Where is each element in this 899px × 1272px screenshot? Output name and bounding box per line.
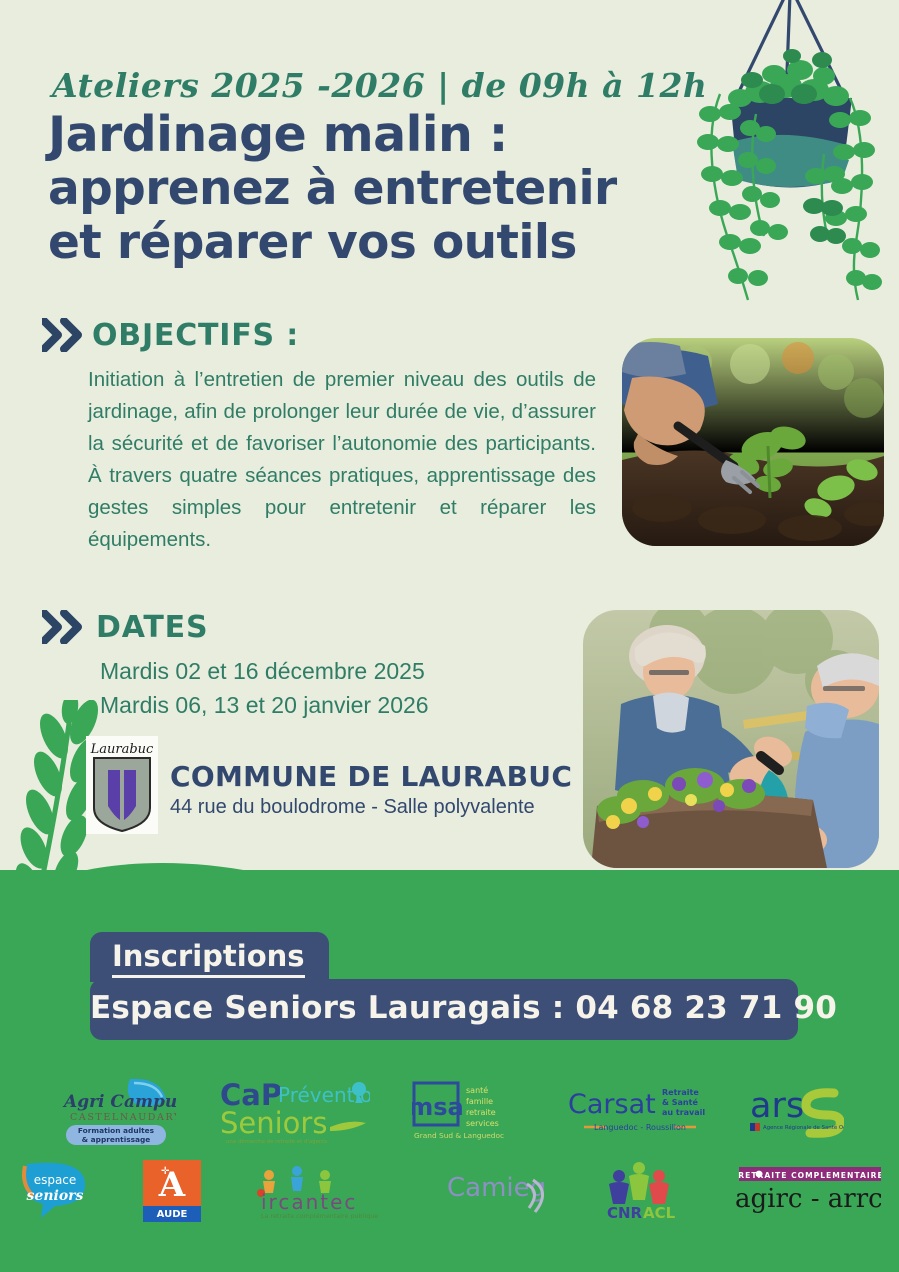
inscriptions-tab-label: Inscriptions xyxy=(112,939,305,978)
svg-text:Formation adultes: Formation adultes xyxy=(77,1126,154,1135)
dates-item: Mardis 02 et 16 décembre 2025 xyxy=(100,654,429,688)
dates-heading: DATES xyxy=(96,610,208,645)
carsat-logo: Carsat Retraite & Santé au travail Langu… xyxy=(566,1081,706,1139)
seniors-title: Seniors xyxy=(220,1106,327,1140)
agri-campus-subtitle: CASTELNAUDARY xyxy=(70,1112,176,1123)
cnracl-logo: CNR ACL xyxy=(601,1160,677,1222)
title-line-1: Jardinage malin : xyxy=(48,108,668,162)
registration-contact-bar: Espace Seniors Lauragais : 04 68 23 71 9… xyxy=(90,979,798,1040)
ircantec-tagline: La retraite complémentaire publique xyxy=(261,1212,378,1219)
msa-line: famille xyxy=(466,1097,493,1106)
title-line-3: et réparer vos outils xyxy=(48,216,668,270)
page-title: Jardinage malin : apprenez à entretenir … xyxy=(48,108,668,270)
partner-logos-row-2: espace seniors A ✛ AUDE ircantec La ret xyxy=(0,1152,899,1230)
dates-list: Mardis 02 et 16 décembre 2025 Mardis 06,… xyxy=(100,654,429,722)
agri-campus-logo: Agri Campus CASTELNAUDARY Formation adul… xyxy=(56,1073,176,1147)
cnracl-title-1: CNR xyxy=(607,1204,643,1222)
kicker-text: Ateliers 2025 -2026 | de 09h à 12h xyxy=(52,66,707,105)
cap-tagline: une démarche de retraite et d'agents xyxy=(226,1138,327,1145)
msa-logo: msa santé famille retraite services Gran… xyxy=(412,1079,524,1141)
svg-text:au travail: au travail xyxy=(662,1108,705,1117)
svg-text:& Santé: & Santé xyxy=(662,1097,698,1107)
agirc-arrco-title: agirc - arrco xyxy=(735,1184,881,1214)
hanging-plant-illustration xyxy=(664,0,896,314)
ircantec-logo: ircantec La retraite complémentaire publ… xyxy=(253,1163,393,1219)
commune-address: 44 rue du boulodrome - Salle polyvalente xyxy=(170,796,535,819)
espace-title: espace xyxy=(33,1173,76,1187)
aude-departement-logo: A ✛ AUDE xyxy=(143,1160,201,1222)
crest-label: Laurabuc xyxy=(90,742,154,757)
msa-line: santé xyxy=(466,1085,488,1095)
msa-title: msa xyxy=(412,1093,464,1121)
ars-tagline: Agence Régionale de Santé Occitanie xyxy=(763,1124,844,1131)
svg-text:✛: ✛ xyxy=(161,1166,170,1177)
agirc-arrco-logo: RETRAITE COMPLEMENTAIRE agirc - arrco xyxy=(729,1165,881,1217)
objectives-heading: OBJECTIFS : xyxy=(92,318,299,353)
espace-seniors-logo: espace seniors xyxy=(19,1160,91,1222)
commune-name: COMMUNE DE LAURABUC xyxy=(170,760,572,793)
aude-title: AUDE xyxy=(156,1209,187,1220)
poster-root: Ateliers 2025 -2026 | de 09h à 12h Jardi… xyxy=(0,0,899,1272)
msa-line: retraite xyxy=(466,1108,496,1117)
gardening-hands-photo xyxy=(622,338,884,546)
msa-line: services xyxy=(466,1119,499,1128)
laurabuc-crest-icon: Laurabuc xyxy=(86,736,158,834)
cap-prevention-seniors-logo: CaP Prévention Seniors une démarche de r… xyxy=(218,1075,370,1145)
ars-title: ars xyxy=(750,1086,804,1126)
agirc-arrco-banner: RETRAITE COMPLEMENTAIRE xyxy=(738,1171,881,1180)
partner-logos-row-1: Agri Campus CASTELNAUDARY Formation adul… xyxy=(0,1070,899,1150)
inscriptions-tab: Inscriptions xyxy=(90,932,329,982)
msa-tagline: Grand Sud & Languedoc xyxy=(414,1131,504,1140)
seniors-gardening-photo xyxy=(583,610,879,868)
ircantec-title: ircantec xyxy=(261,1190,357,1214)
svg-text:Retraite: Retraite xyxy=(662,1088,699,1097)
objectives-body: Initiation à l’entretien de premier nive… xyxy=(88,364,596,556)
dates-item: Mardis 06, 13 et 20 janvier 2026 xyxy=(100,688,429,722)
cnracl-title-2: ACL xyxy=(643,1204,676,1222)
carsat-title: Carsat xyxy=(568,1089,656,1120)
carsat-tagline: Languedoc - Roussillon xyxy=(594,1123,686,1132)
title-line-2: apprenez à entretenir xyxy=(48,162,668,216)
double-chevron-icon xyxy=(42,610,88,644)
seniors-title: seniors xyxy=(26,1188,83,1204)
camieg-logo: Camieg xyxy=(445,1166,549,1216)
ars-logo: ars Agence Régionale de Santé Occitanie xyxy=(748,1081,844,1139)
agri-campus-title: Agri Campus xyxy=(62,1092,176,1112)
svg-text:& apprentissage: & apprentissage xyxy=(81,1135,150,1144)
double-chevron-icon xyxy=(42,318,88,352)
